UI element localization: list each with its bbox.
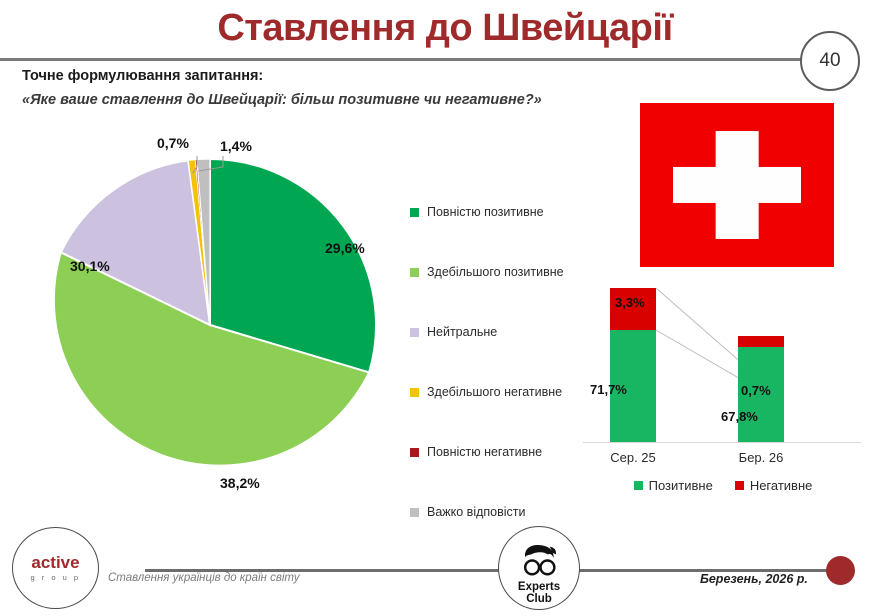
page-number-badge: 40 bbox=[800, 31, 860, 91]
experts-club-logo-line2: Club bbox=[526, 593, 552, 605]
pie-chart: 29,6% 38,2% 30,1% 0,7% 1,4% bbox=[45, 140, 395, 500]
bar-value-ser25-positive: 71,7% bbox=[590, 382, 627, 397]
question-text: «Яке ваше ставлення до Швейцарії: більш … bbox=[22, 92, 542, 108]
legend-label: Здебільшого позитивне bbox=[427, 265, 564, 279]
legend-swatch-icon bbox=[410, 328, 419, 337]
trend-bar-chart: 3,3% 71,7% Сер. 25 0,7% 67,8% Бер. 26 По… bbox=[578, 282, 868, 502]
slide-root: Ставлення до Швейцарії 40 Точне формулюв… bbox=[0, 0, 890, 616]
legend-swatch-icon bbox=[410, 208, 419, 217]
pie-label-hard-to-answer: 1,4% bbox=[220, 138, 252, 154]
legend-item-mostly-negative[interactable]: Здебільшого негативне bbox=[410, 362, 600, 422]
legend-label: Повністю негативне bbox=[427, 445, 542, 459]
bar-value-ber26-positive: 67,8% bbox=[721, 409, 758, 424]
bar-value-ber26-negative: 0,7% bbox=[741, 383, 771, 398]
bar-category-ber-26: Бер. 26 bbox=[701, 450, 821, 465]
legend-label: Нейтральне bbox=[427, 325, 497, 339]
legend-swatch-icon bbox=[410, 508, 419, 517]
experts-club-logo-line1: Experts bbox=[518, 581, 560, 593]
bar-chart-legend: Позитивне Негативне bbox=[578, 478, 868, 493]
pie-label-mostly-negative: 0,7% bbox=[157, 135, 189, 151]
legend-item-mostly-positive[interactable]: Здебільшого позитивне bbox=[410, 242, 600, 302]
legend-item-fully-negative[interactable]: Повністю негативне bbox=[410, 422, 600, 482]
footer-caption: Ставлення українців до країн світу bbox=[108, 572, 299, 584]
legend-label: Здебільшого негативне bbox=[427, 385, 562, 399]
bar-segment-negative bbox=[738, 336, 784, 347]
bar-legend-label: Позитивне bbox=[649, 478, 713, 493]
legend-swatch-icon bbox=[410, 268, 419, 277]
legend-item-fully-positive[interactable]: Повністю позитивне bbox=[410, 182, 600, 242]
switzerland-flag-icon bbox=[640, 103, 834, 267]
bar-value-ser25-negative: 3,3% bbox=[615, 295, 645, 310]
legend-swatch-icon bbox=[735, 481, 744, 490]
header-divider bbox=[0, 58, 824, 61]
flag-cross-horizontal bbox=[673, 167, 801, 203]
legend-label: Повністю позитивне bbox=[427, 205, 544, 219]
pie-label-fully-positive: 29,6% bbox=[325, 240, 365, 256]
active-group-logo-line1: active bbox=[31, 554, 79, 572]
legend-swatch-icon bbox=[410, 388, 419, 397]
experts-club-logo: Experts Club bbox=[498, 526, 580, 610]
active-group-logo-line2: g r o u p bbox=[30, 573, 80, 582]
legend-item-neutral[interactable]: Нейтральне bbox=[410, 302, 600, 362]
question-label: Точне формулювання запитання: bbox=[22, 68, 263, 84]
bar-group-ser-25[interactable] bbox=[610, 288, 656, 442]
bar-legend-item-positive[interactable]: Позитивне bbox=[634, 478, 713, 493]
legend-item-hard-to-answer[interactable]: Важко відповісти bbox=[410, 482, 600, 542]
bar-legend-label: Негативне bbox=[750, 478, 813, 493]
active-group-logo: active g r o u p bbox=[12, 527, 99, 609]
pie-legend: Повністю позитивне Здебільшого позитивне… bbox=[410, 182, 600, 542]
pie-label-mostly-positive: 38,2% bbox=[220, 475, 260, 491]
pie-chart-svg bbox=[45, 140, 395, 500]
legend-label: Важко відповісти bbox=[427, 505, 526, 519]
footer-dot-icon bbox=[826, 556, 855, 585]
footer-date: Березень, 2026 р. bbox=[700, 572, 808, 586]
page-title: Ставлення до Швейцарії bbox=[0, 6, 890, 50]
bar-category-ser-25: Сер. 25 bbox=[573, 450, 693, 465]
experts-club-face-icon bbox=[516, 544, 562, 580]
legend-swatch-icon bbox=[634, 481, 643, 490]
pie-label-neutral: 30,1% bbox=[70, 258, 110, 274]
bar-legend-item-negative[interactable]: Негативне bbox=[735, 478, 813, 493]
legend-swatch-icon bbox=[410, 448, 419, 457]
